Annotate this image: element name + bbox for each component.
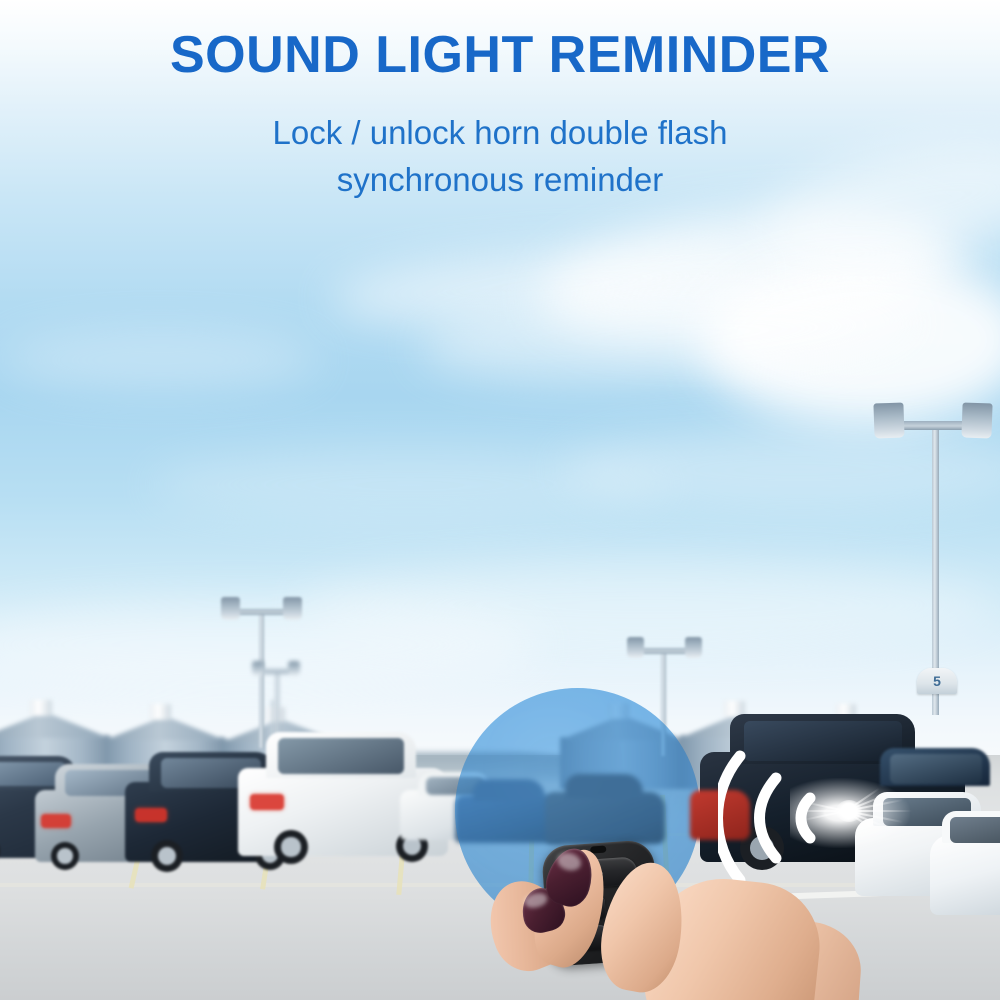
promo-banner: 5 <box>0 0 1000 1000</box>
page-subtitle: Lock / unlock horn double flash synchron… <box>0 110 1000 204</box>
page-subtitle-line1: Lock / unlock horn double flash <box>273 114 728 151</box>
parking-stall-sign: 5 <box>917 668 957 694</box>
parking-stall-number: 5 <box>917 673 957 689</box>
car <box>930 835 1000 915</box>
hand <box>500 900 830 1000</box>
page-subtitle-line2: synchronous reminder <box>0 157 1000 204</box>
page-title: SOUND LIGHT REMINDER <box>0 28 1000 83</box>
signal-waves-icon <box>718 748 848 888</box>
